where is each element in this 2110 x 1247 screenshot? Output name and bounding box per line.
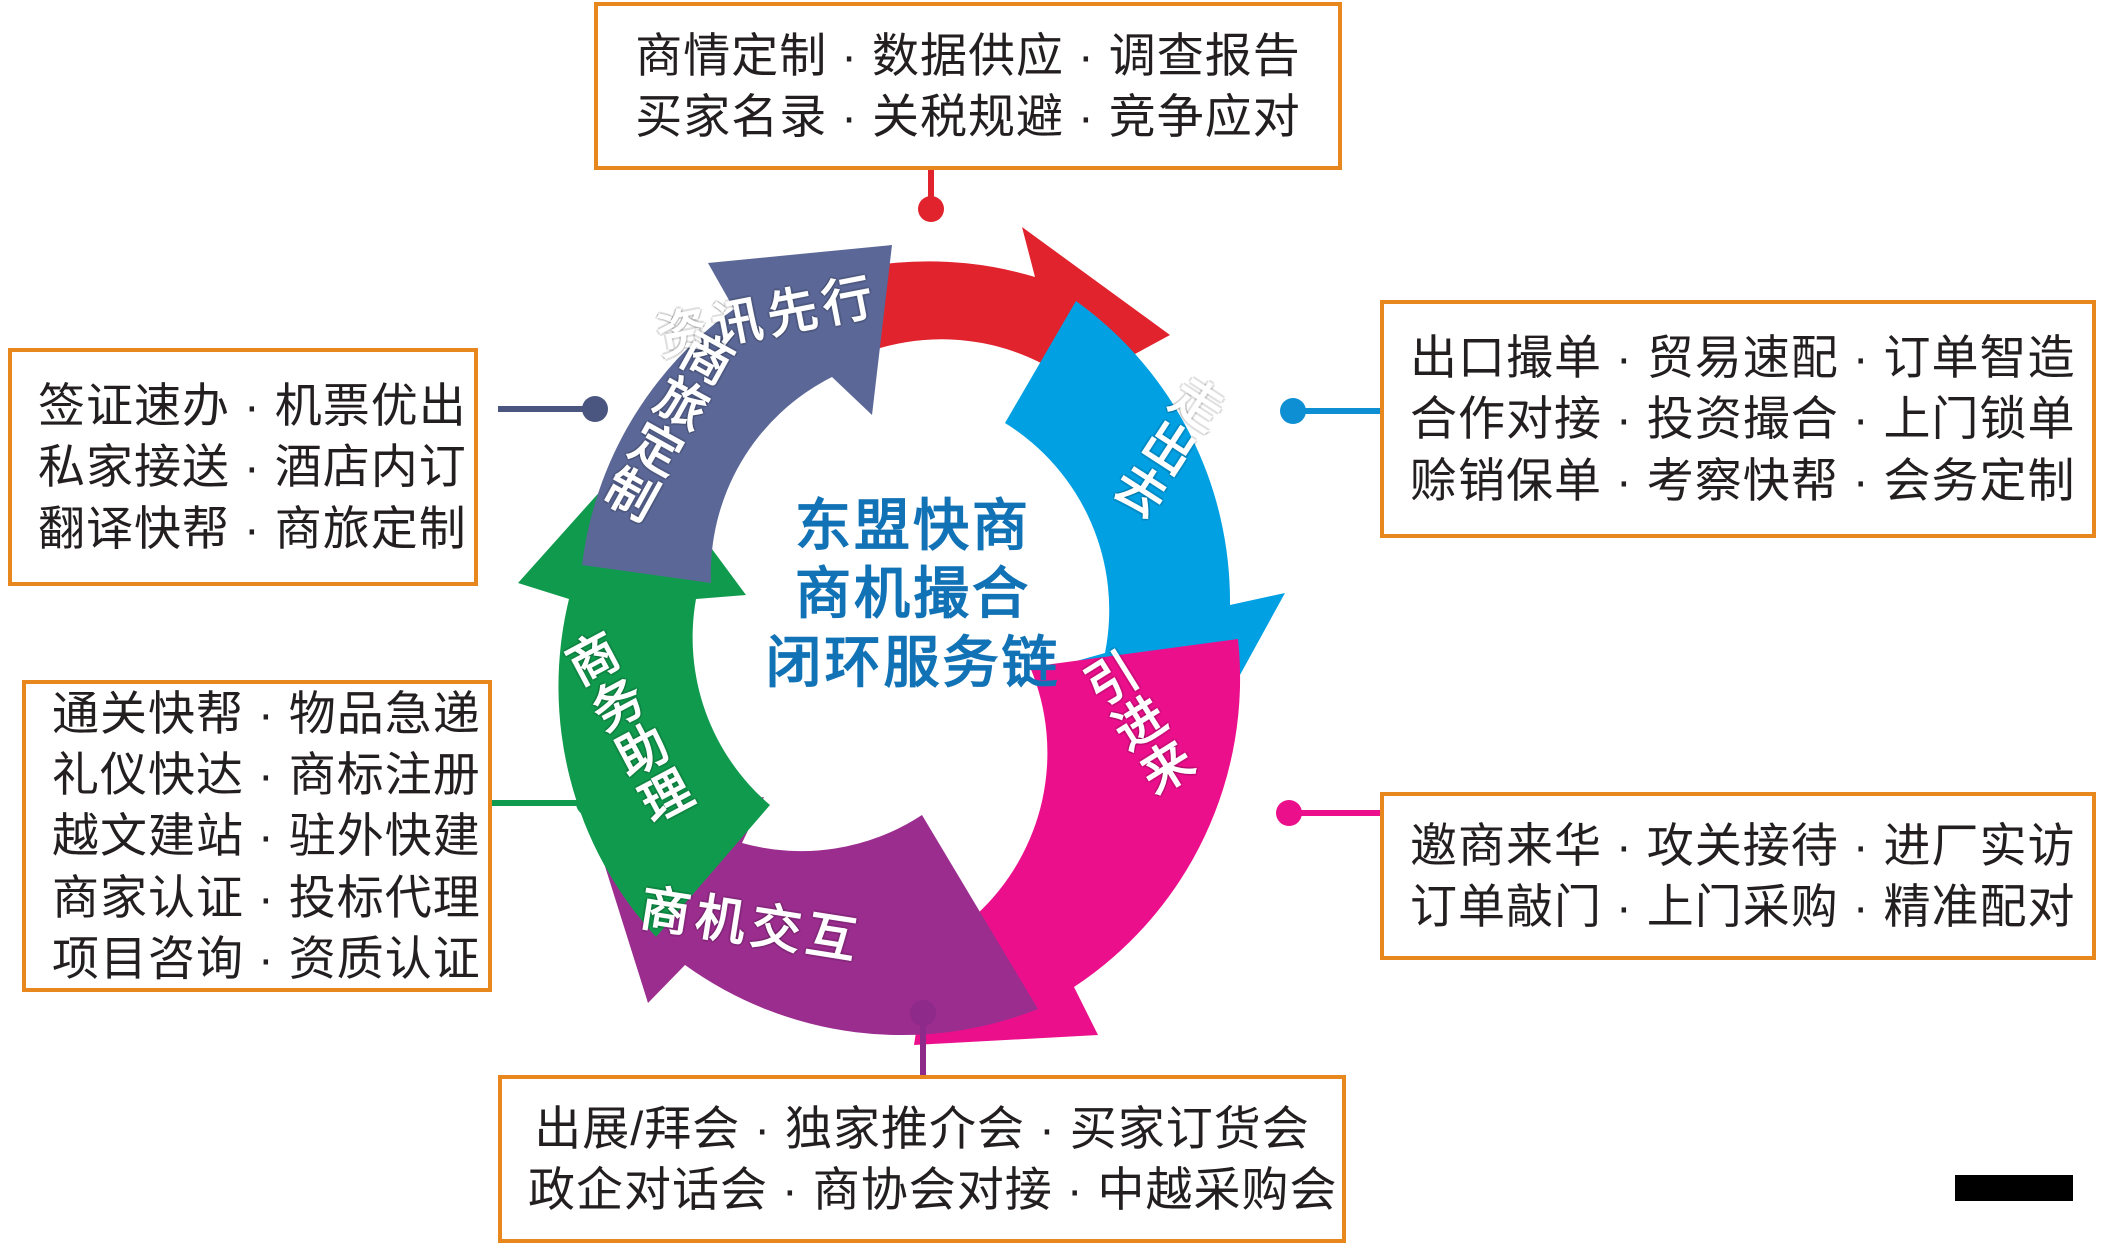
- callout-box-assist: 通关快帮 · 物品急递 礼仪快达 · 商标注册 越文建站 · 驻外快建 商家认证…: [22, 680, 492, 992]
- connector-info-dot: [918, 196, 944, 222]
- callout-line: 项目咨询 · 资质认证: [52, 928, 462, 989]
- connector-goout-dot: [1280, 398, 1306, 424]
- connector-travel: [498, 396, 608, 422]
- connector-assist-dot: [576, 790, 602, 816]
- black-bar-decoration: [1955, 1175, 2073, 1201]
- connector-info: [918, 168, 944, 216]
- callout-line: 翻译快帮 · 商旅定制: [38, 498, 448, 559]
- connector-travel-line: [498, 406, 588, 412]
- callout-line: 礼仪快达 · 商标注册: [52, 744, 462, 805]
- callout-line: 商家认证 · 投标代理: [52, 867, 462, 928]
- callout-line: 通关快帮 · 物品急递: [52, 683, 462, 744]
- callout-line: 订单敲门 · 上门采购 · 精准配对: [1410, 876, 2066, 937]
- callout-line: 政企对话会 · 商协会对接 · 中越采购会: [528, 1159, 1316, 1220]
- connector-assist-line: [492, 800, 582, 806]
- callout-box-travel: 签证速办 · 机票优出 私家接送 · 酒店内订 翻译快帮 · 商旅定制: [8, 348, 478, 586]
- cycle-diagram: 资讯先行 走出去 引进来 商机交互 商务助理 商旅定制: [470, 215, 1350, 1095]
- callout-line: 出口撮单 · 贸易速配 · 订单智造: [1410, 327, 2066, 388]
- connector-exchange-dot: [910, 1000, 936, 1026]
- connector-goout-line: [1300, 408, 1386, 414]
- callout-line: 出展/拜会 · 独家推介会 · 买家订货会: [528, 1098, 1316, 1159]
- infographic-canvas: 资讯先行 走出去 引进来 商机交互 商务助理 商旅定制 东盟快商 商机撮合 闭环…: [0, 0, 2110, 1247]
- callout-line: 邀商来华 · 攻关接待 · 进厂实访: [1410, 815, 2066, 876]
- connector-exchange: [910, 1000, 936, 1080]
- callout-box-info: 商情定制 · 数据供应 · 调查报告 买家名录 · 关税规避 · 竞争应对: [594, 2, 1342, 170]
- callout-line: 买家名录 · 关税规避 · 竞争应对: [624, 86, 1312, 147]
- callout-line: 签证速办 · 机票优出: [38, 375, 448, 436]
- arrow-segment-travel: [582, 245, 892, 583]
- connector-travel-dot: [582, 396, 608, 422]
- callout-line: 越文建站 · 驻外快建: [52, 805, 462, 866]
- callout-line: 合作对接 · 投资撮合 · 上门锁单: [1410, 388, 2066, 449]
- callout-line: 私家接送 · 酒店内订: [38, 436, 448, 497]
- connector-bringin-line: [1296, 810, 1386, 816]
- callout-line: 赊销保单 · 考察快帮 · 会务定制: [1410, 450, 2066, 511]
- callout-line: 商情定制 · 数据供应 · 调查报告: [624, 25, 1312, 86]
- connector-bringin-dot: [1276, 800, 1302, 826]
- connector-bringin: [1276, 800, 1386, 826]
- callout-box-exchange: 出展/拜会 · 独家推介会 · 买家订货会 政企对话会 · 商协会对接 · 中越…: [498, 1075, 1346, 1243]
- connector-goout: [1280, 398, 1384, 424]
- callout-box-goout: 出口撮单 · 贸易速配 · 订单智造 合作对接 · 投资撮合 · 上门锁单 赊销…: [1380, 300, 2096, 538]
- connector-assist: [492, 790, 602, 816]
- callout-box-bringin: 邀商来华 · 攻关接待 · 进厂实访 订单敲门 · 上门采购 · 精准配对: [1380, 792, 2096, 960]
